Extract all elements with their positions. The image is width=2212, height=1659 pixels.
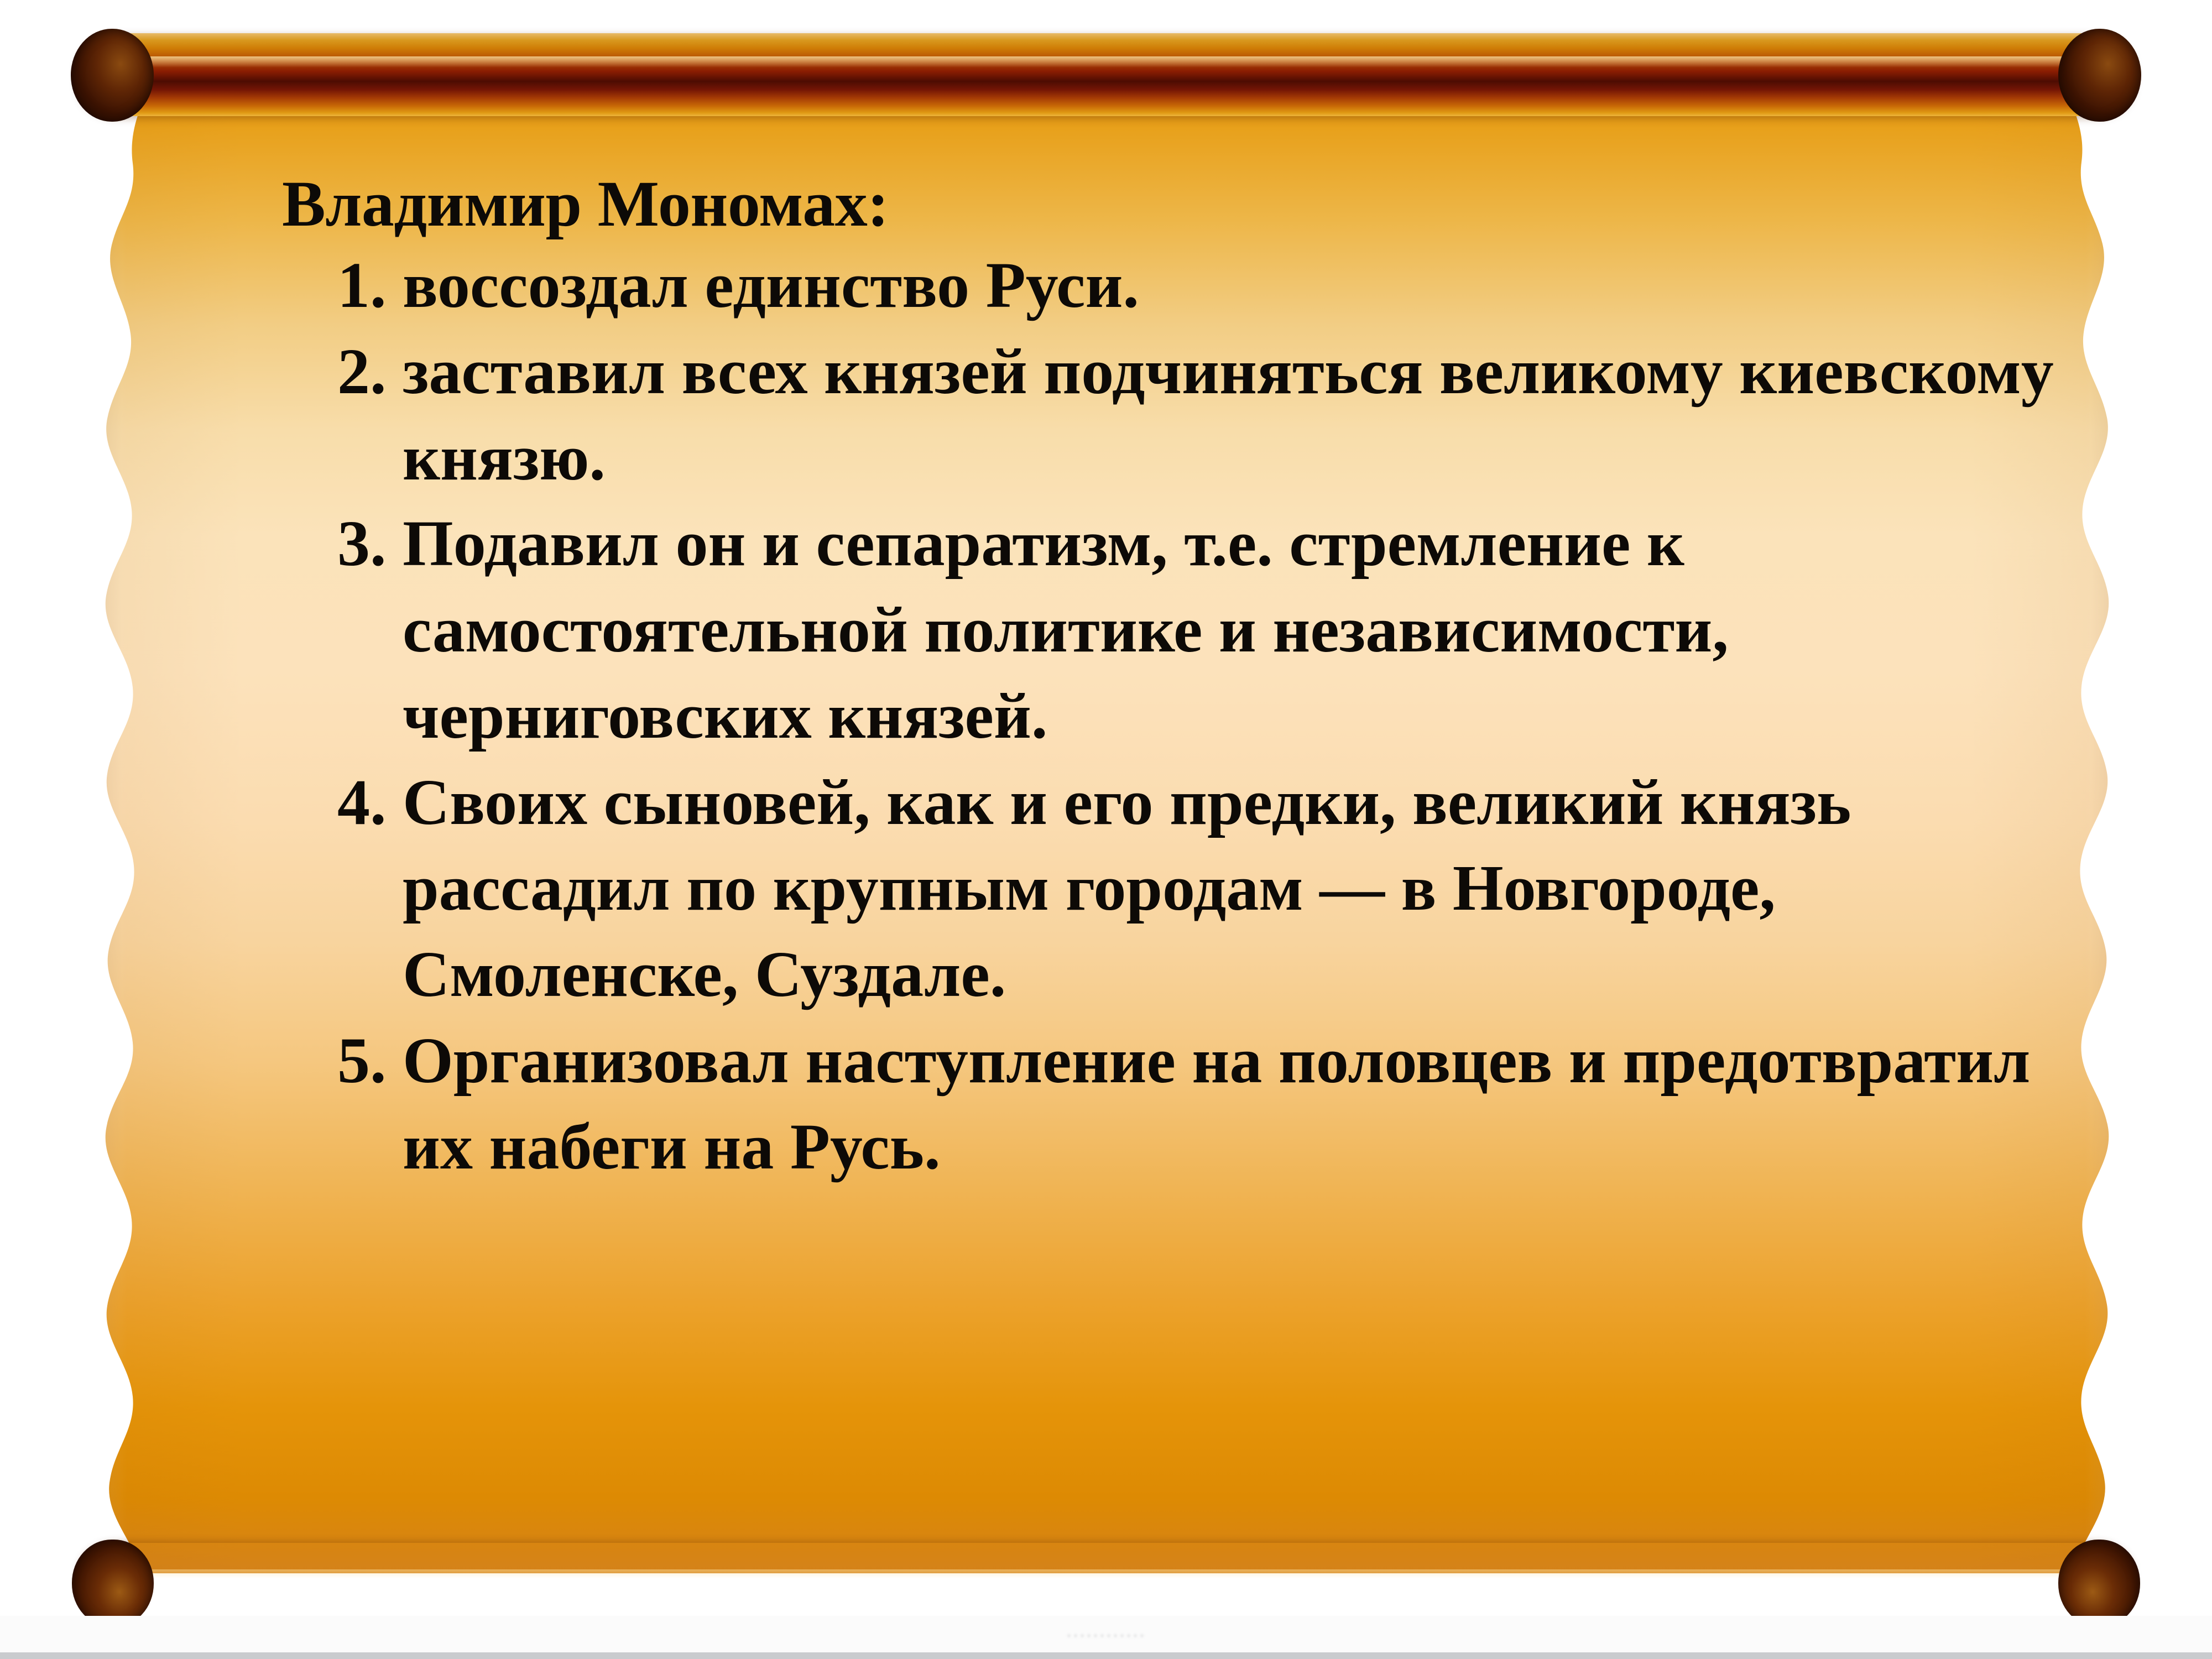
list-item: 5. Организовал наступление на половцев и… <box>282 1018 2096 1190</box>
list-item: 1. воссоздал единство Руси. <box>282 242 2096 328</box>
list-item-text: Организовал наступление на половцев и пр… <box>403 1018 2096 1190</box>
parchment-scroll: Владимир Мономах: 1. воссоздал единство … <box>77 17 2135 1620</box>
bottom-rule <box>0 1652 2212 1659</box>
scroll-bottom-roll-highlight <box>127 1569 2085 1578</box>
scroll-bottom-roll-cap-left <box>72 1540 154 1627</box>
list-item-text: воссоздал единство Руси. <box>403 242 2096 328</box>
scroll-top-roll <box>77 33 2135 116</box>
page-title: Владимир Мономах: <box>282 171 2096 237</box>
slide-content: Владимир Мономах: 1. воссоздал единство … <box>282 171 2096 1190</box>
scroll-bottom-roll <box>77 1543 2135 1619</box>
list-item-marker: 2. <box>282 328 403 415</box>
slide-stage: Владимир Мономах: 1. воссоздал единство … <box>0 0 2212 1659</box>
footer-watermark-text: ············ <box>0 1626 2212 1645</box>
list-item-text: Подавил он и сепаратизм, т.е. стремление… <box>403 500 2096 759</box>
scroll-top-roll-highlight <box>116 56 2096 67</box>
footer-watermark-strip: ············ <box>0 1616 2212 1659</box>
numbered-list: 1. воссоздал единство Руси. 2. заставил … <box>282 242 2096 1190</box>
list-item-text: заставил всех князей подчиняться великом… <box>403 328 2096 501</box>
list-item-marker: 3. <box>282 500 403 587</box>
scroll-top-roll-cap-left <box>71 29 154 122</box>
list-item: 4. Своих сыновей, как и его предки, вели… <box>282 759 2096 1018</box>
list-item: 3. Подавил он и сепаратизм, т.е. стремле… <box>282 500 2096 759</box>
list-item-marker: 5. <box>282 1018 403 1104</box>
list-item: 2. заставил всех князей подчиняться вели… <box>282 328 2096 501</box>
list-item-marker: 4. <box>282 759 403 846</box>
scroll-top-roll-cap-right <box>2058 29 2141 122</box>
scroll-bottom-roll-cap-right <box>2058 1540 2140 1627</box>
list-item-text: Своих сыновей, как и его предки, великий… <box>403 759 2096 1018</box>
list-item-marker: 1. <box>282 242 403 328</box>
